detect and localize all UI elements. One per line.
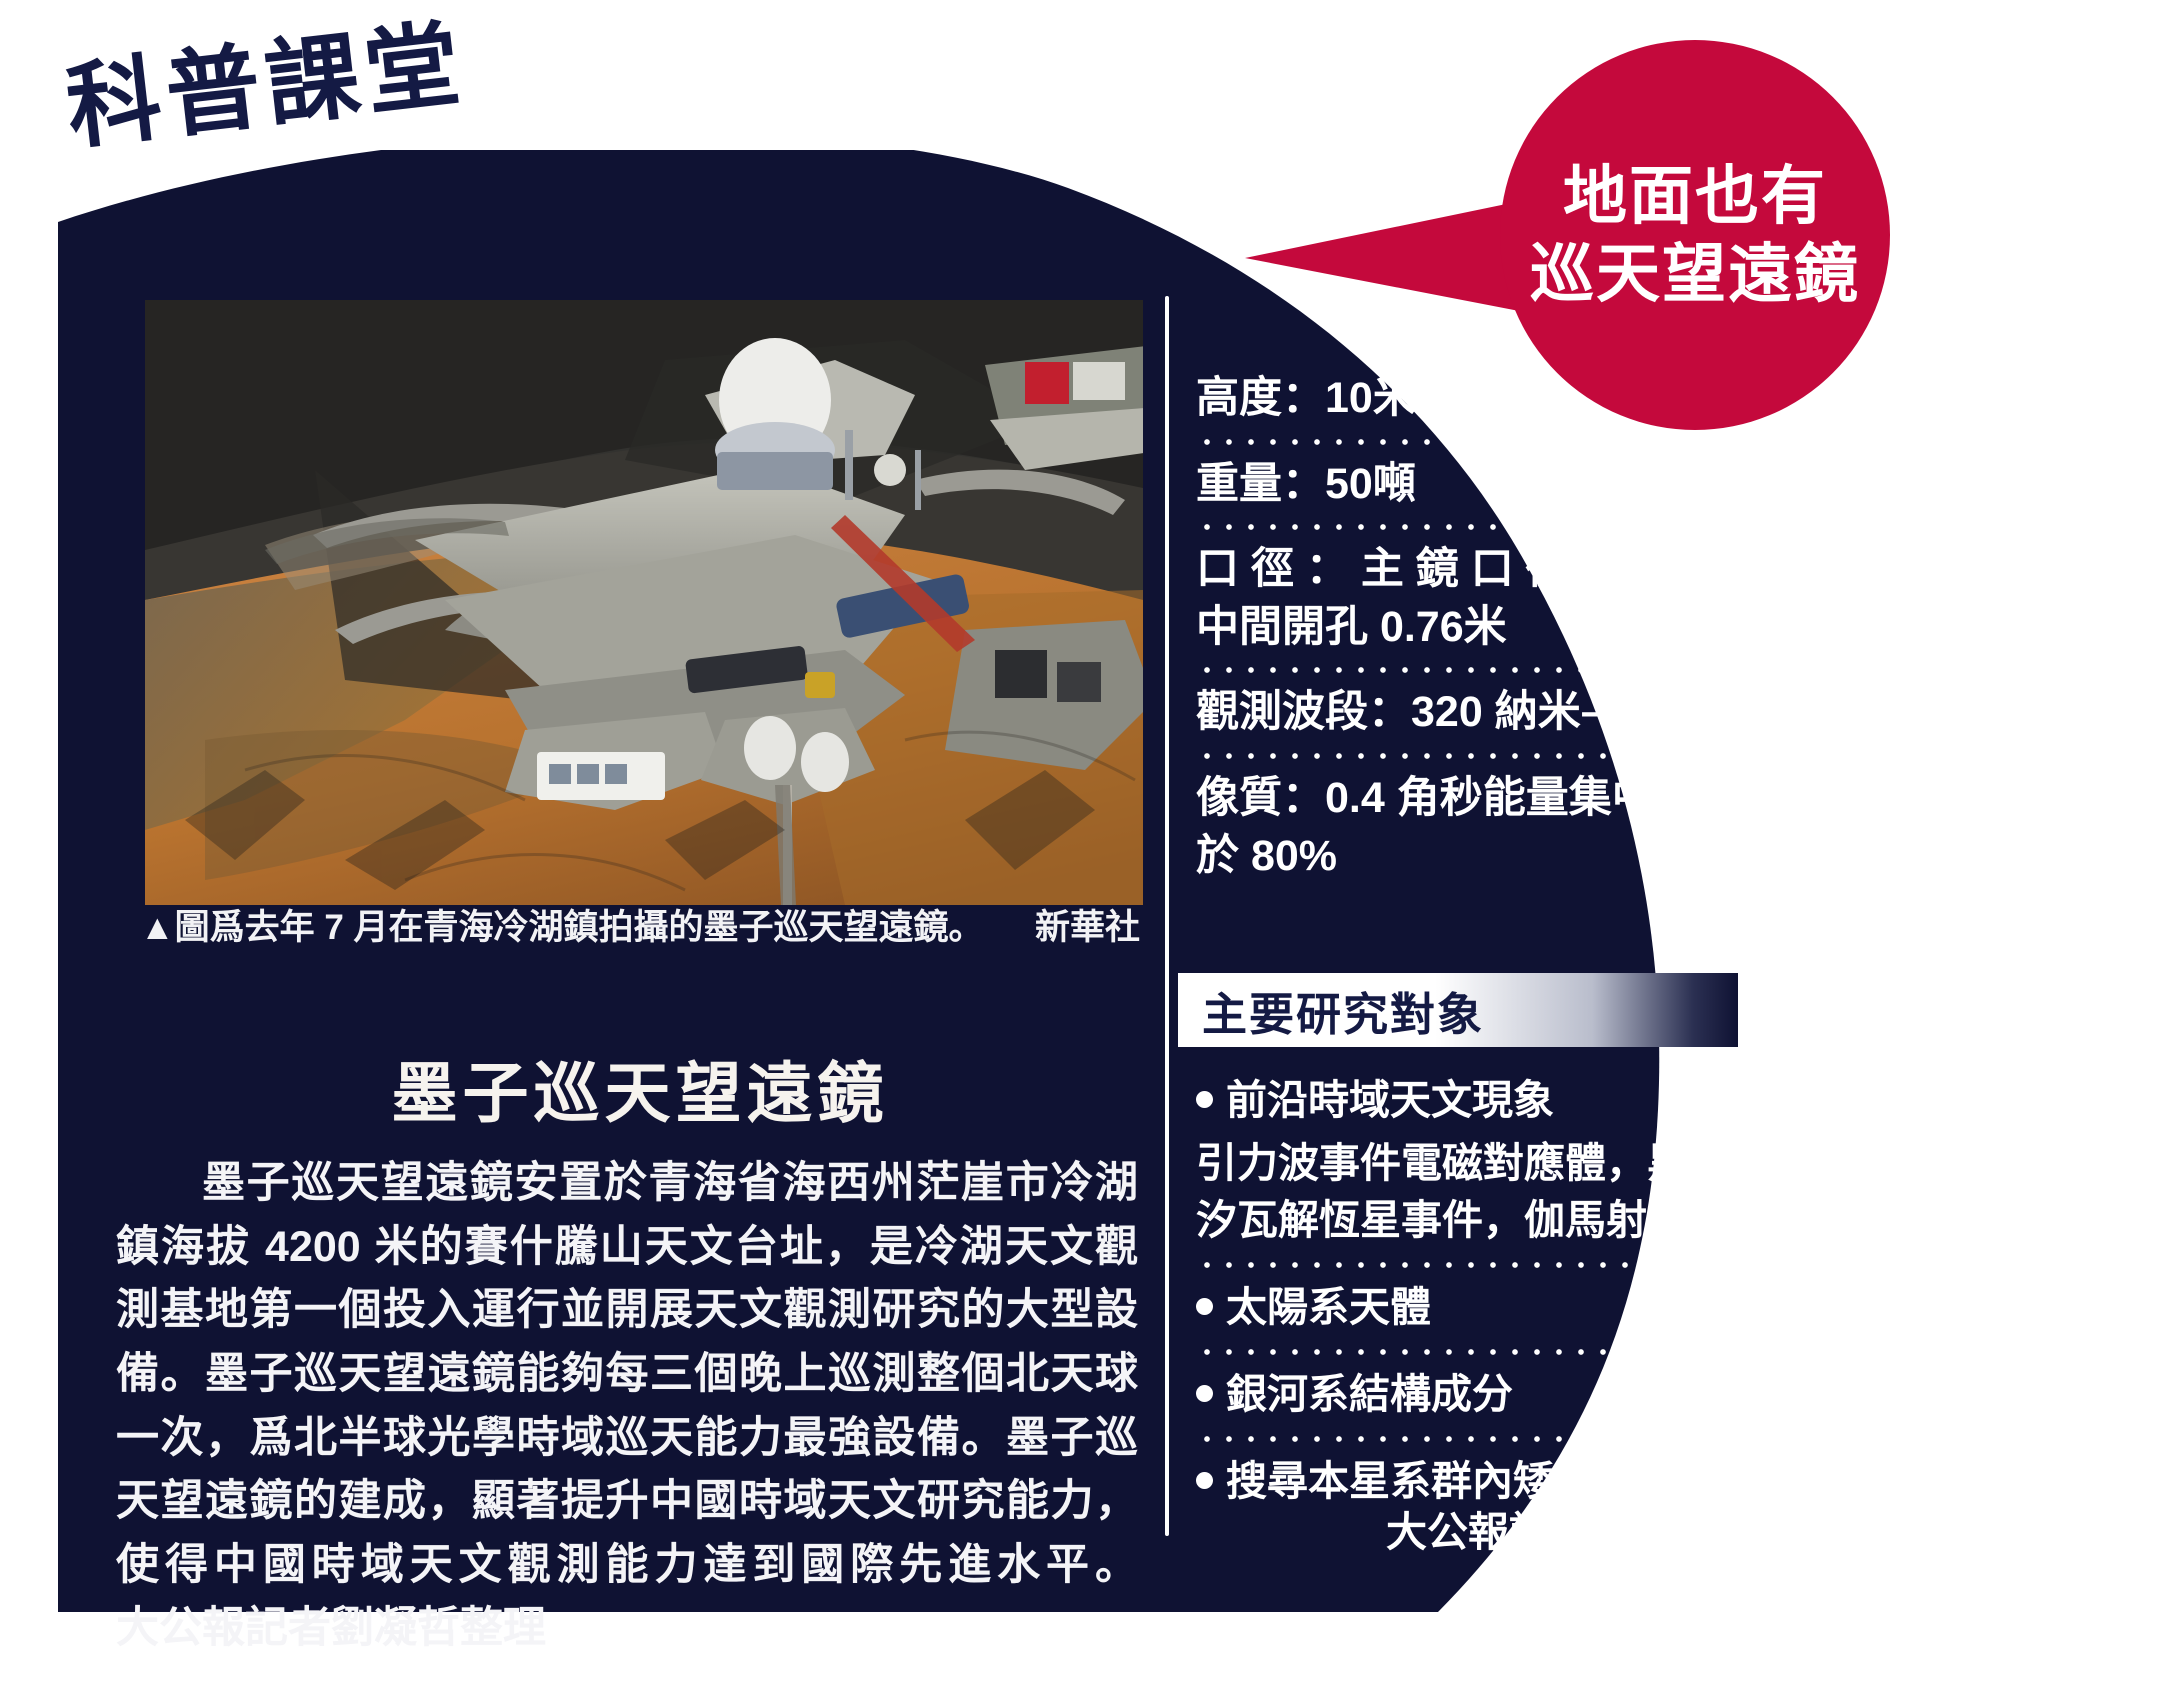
research-item-label-0: 前沿時域天文現象 bbox=[1226, 1072, 1554, 1129]
photo-caption-text: ▲圖爲去年 7 月在青海冷湖鎮拍攝的墨子巡天望遠鏡。 bbox=[140, 908, 984, 947]
article-headline: 墨子巡天望遠鏡 bbox=[140, 1040, 1140, 1136]
observatory-photo bbox=[145, 300, 1143, 905]
research-target-list: 前沿時域天文現象 引力波事件電磁對應體，黑洞潮汐瓦解恆星事件，伽馬射線暴等 太陽… bbox=[1196, 1072, 1796, 1509]
callout-line-2: 巡天望遠鏡 bbox=[1530, 235, 1860, 313]
observatory-photo-graphic bbox=[145, 300, 1143, 905]
spec-item-bandwidth: 觀測波段：320 納米–960 納米 bbox=[1196, 682, 1776, 742]
spec-item-weight: 重量：50噸 bbox=[1196, 454, 1776, 514]
list-item: 銀河系結構成分 bbox=[1196, 1366, 1796, 1423]
research-item-label-2: 銀河系結構成分 bbox=[1226, 1366, 1513, 1423]
spec-list: 高度：10米 重量：50噸 口 徑 ： 主 鏡 口 徑 2.5 米，中間開孔 0… bbox=[1196, 368, 1776, 885]
spec-item-aperture: 口 徑 ： 主 鏡 口 徑 2.5 米，中間開孔 0.76米 bbox=[1196, 539, 1776, 656]
bullet-icon bbox=[1196, 1298, 1213, 1315]
callout-line-1: 地面也有 bbox=[1563, 157, 1827, 235]
list-item: 太陽系天體 bbox=[1196, 1279, 1796, 1336]
spec-divider-1 bbox=[1196, 434, 1506, 450]
section-header-title: 主要研究對象 bbox=[1178, 978, 1484, 1043]
callout-bubble: 地面也有 巡天望遠鏡 bbox=[1500, 40, 1890, 430]
spec-divider-3 bbox=[1196, 662, 1666, 678]
column-divider bbox=[1165, 296, 1169, 1536]
spec-divider-2 bbox=[1196, 519, 1506, 535]
callout-bubble-tail bbox=[1245, 196, 1545, 316]
bullet-icon bbox=[1196, 1091, 1213, 1108]
photo-credit: 新華社 bbox=[1035, 905, 1140, 951]
research-divider-2 bbox=[1196, 1344, 1756, 1360]
article-body: 墨子巡天望遠鏡安置於青海省海西州茫崖市冷湖鎮海拔 4200 米的賽什騰山天文台址… bbox=[116, 1152, 1138, 1661]
research-divider-1 bbox=[1196, 1257, 1742, 1273]
bullet-icon bbox=[1196, 1385, 1213, 1402]
section-header-bar: 主要研究對象 bbox=[1178, 973, 1738, 1047]
bullet-icon bbox=[1196, 1472, 1213, 1489]
page-kicker-title: 科普課堂 bbox=[62, 17, 470, 156]
right-column-byline: 大公報記者劉凝哲整理 bbox=[1196, 1498, 1796, 1558]
research-item-detail-0: 引力波事件電磁對應體，黑洞潮汐瓦解恆星事件，伽馬射線暴等 bbox=[1196, 1129, 1796, 1250]
article-body-text: 墨子巡天望遠鏡安置於青海省海西州茫崖市冷湖鎮海拔 4200 米的賽什騰山天文台址… bbox=[116, 1159, 1138, 1589]
spec-item-imagequality: 像質：0.4 角秒能量集中度優於 80% bbox=[1196, 768, 1776, 885]
research-divider-3 bbox=[1196, 1431, 1768, 1447]
research-item-label-1: 太陽系天體 bbox=[1226, 1279, 1431, 1336]
spec-divider-4 bbox=[1196, 748, 1726, 764]
article-byline: 大公報記者劉凝哲整理 bbox=[116, 1604, 546, 1652]
photo-caption: 新華社 ▲圖爲去年 7 月在青海冷湖鎮拍攝的墨子巡天望遠鏡。 bbox=[140, 905, 1140, 951]
list-item: 前沿時域天文現象 bbox=[1196, 1072, 1796, 1129]
